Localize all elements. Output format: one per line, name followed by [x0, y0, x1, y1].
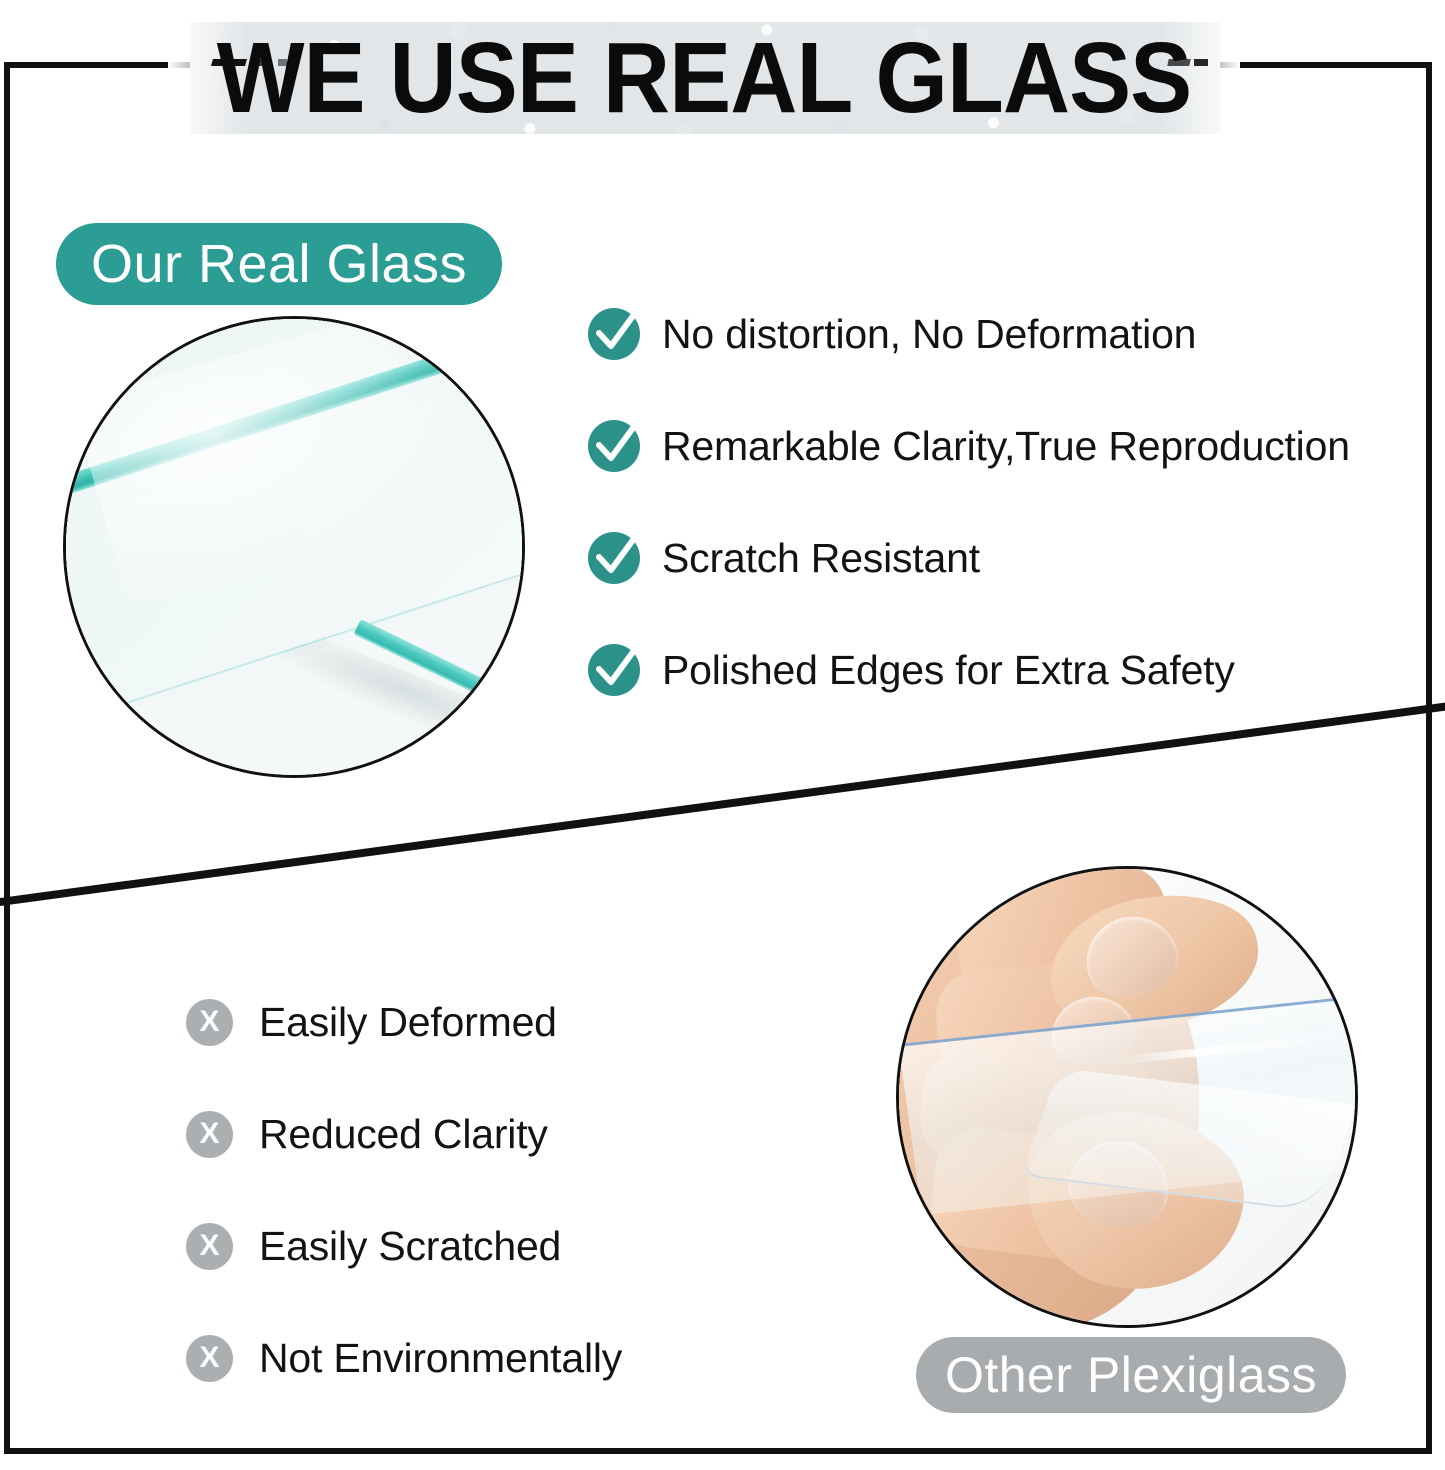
benefit-list: No distortion, No Deformation Remarkable…	[588, 278, 1428, 726]
benefit-label: Remarkable Clarity,True Reproduction	[662, 422, 1350, 470]
benefit-label: No distortion, No Deformation	[662, 310, 1196, 358]
check-icon	[588, 532, 640, 584]
x-icon: X	[186, 1111, 233, 1158]
list-item: X Not Environmentally	[186, 1302, 806, 1414]
check-icon	[588, 308, 640, 360]
benefit-label: Polished Edges for Extra Safety	[662, 646, 1235, 694]
check-icon	[588, 644, 640, 696]
drawback-label: Easily Scratched	[259, 1222, 561, 1270]
infographic-canvas: WE USE REAL GLASS Our Real Glass No dist…	[0, 0, 1445, 1470]
drawback-label: Not Environmentally	[259, 1334, 622, 1382]
title-texture-band: WE USE REAL GLASS	[168, 12, 1240, 144]
real-glass-photo	[63, 316, 525, 778]
x-icon: X	[186, 999, 233, 1046]
x-icon: X	[186, 1335, 233, 1382]
check-icon	[588, 420, 640, 472]
list-item: No distortion, No Deformation	[588, 278, 1428, 390]
list-item: X Easily Scratched	[186, 1190, 806, 1302]
plexiglass-photo	[896, 866, 1358, 1328]
list-item: X Easily Deformed	[186, 966, 806, 1078]
benefit-label: Scratch Resistant	[662, 534, 980, 582]
badge-our-real-glass: Our Real Glass	[56, 223, 502, 305]
drawback-label: Reduced Clarity	[259, 1110, 548, 1158]
page-title: WE USE REAL GLASS	[206, 24, 1203, 132]
list-item: Scratch Resistant	[588, 502, 1428, 614]
list-item: X Reduced Clarity	[186, 1078, 806, 1190]
badge-other-plexiglass: Other Plexiglass	[916, 1337, 1346, 1413]
drawback-label: Easily Deformed	[259, 998, 557, 1046]
list-item: Remarkable Clarity,True Reproduction	[588, 390, 1428, 502]
x-icon: X	[186, 1223, 233, 1270]
list-item: Polished Edges for Extra Safety	[588, 614, 1428, 726]
drawback-list: X Easily Deformed X Reduced Clarity X Ea…	[186, 966, 806, 1414]
